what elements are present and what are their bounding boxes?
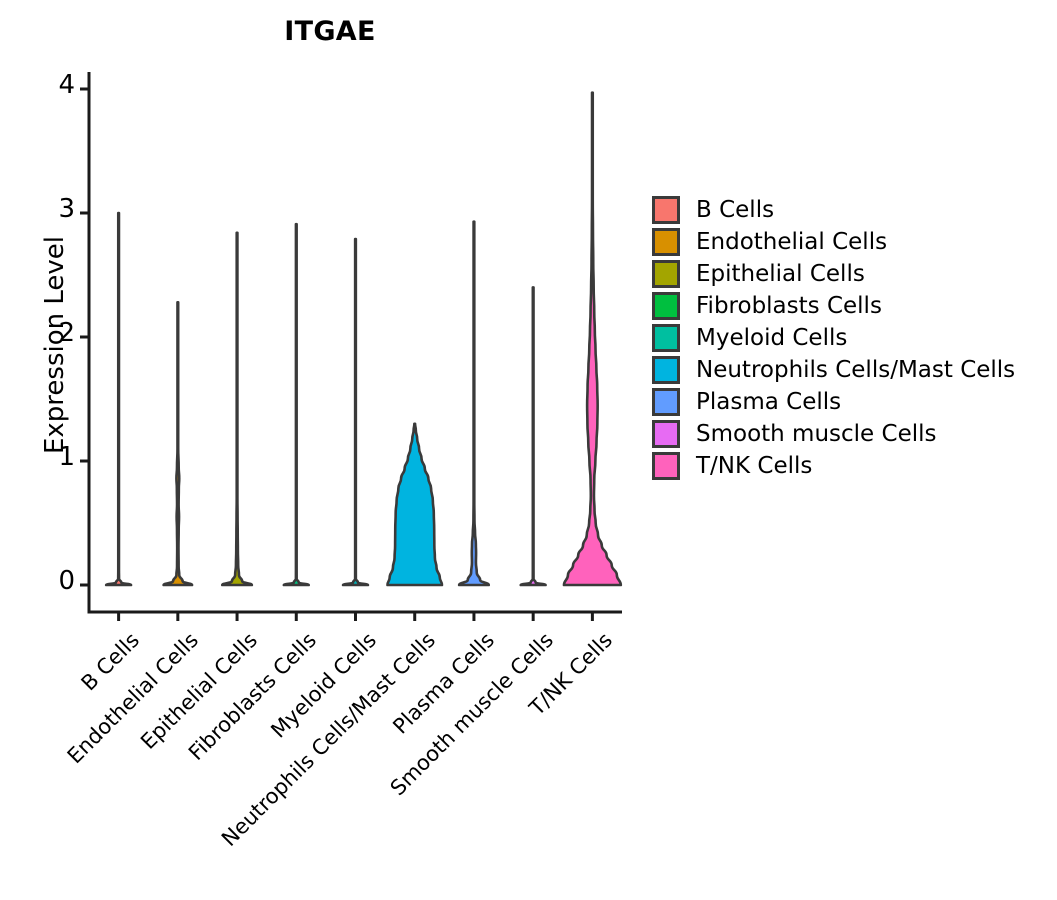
legend-swatch-icon: [652, 260, 680, 288]
legend-swatch-icon: [652, 324, 680, 352]
legend-swatch-icon: [652, 420, 680, 448]
legend-swatch-icon: [652, 356, 680, 384]
legend-swatch-icon: [652, 292, 680, 320]
legend-label: Smooth muscle Cells: [696, 423, 937, 446]
legend-item[interactable]: Neutrophils Cells/Mast Cells: [652, 354, 1015, 386]
violin-b-cells[interactable]: [106, 213, 131, 585]
legend-label: B Cells: [696, 199, 774, 222]
legend-label: Plasma Cells: [696, 391, 841, 414]
legend-item[interactable]: Plasma Cells: [652, 386, 1015, 418]
violin-smooth-muscle-cells[interactable]: [521, 287, 546, 585]
legend-item[interactable]: Myeloid Cells: [652, 322, 1015, 354]
legend-swatch-icon: [652, 196, 680, 224]
legend: B CellsEndothelial CellsEpithelial Cells…: [652, 194, 1015, 482]
legend-swatch-icon: [652, 228, 680, 256]
violin-plot-figure: ITGAE Expression Level 01234 B CellsEndo…: [0, 0, 1057, 900]
legend-swatch-icon: [652, 452, 680, 480]
violin-t-nk-cells[interactable]: [564, 93, 621, 585]
legend-swatch-icon: [652, 388, 680, 416]
legend-item[interactable]: Endothelial Cells: [652, 226, 1015, 258]
legend-label: Myeloid Cells: [696, 327, 847, 350]
violin-endothelial-cells[interactable]: [164, 302, 192, 585]
legend-label: Fibroblasts Cells: [696, 295, 882, 318]
legend-item[interactable]: Fibroblasts Cells: [652, 290, 1015, 322]
legend-item[interactable]: B Cells: [652, 194, 1015, 226]
legend-item[interactable]: Smooth muscle Cells: [652, 418, 1015, 450]
legend-label: Epithelial Cells: [696, 263, 865, 286]
violin-fibroblasts-cells[interactable]: [284, 224, 309, 585]
legend-label: Neutrophils Cells/Mast Cells: [696, 359, 1015, 382]
violin-myeloid-cells[interactable]: [343, 239, 368, 585]
violin-plasma-cells[interactable]: [459, 222, 489, 585]
violin-epithelial-cells[interactable]: [222, 233, 252, 585]
violin-neutrophils-cells-mast-cells[interactable]: [387, 424, 441, 585]
legend-item[interactable]: Epithelial Cells: [652, 258, 1015, 290]
legend-label: T/NK Cells: [696, 455, 812, 478]
legend-item[interactable]: T/NK Cells: [652, 450, 1015, 482]
legend-label: Endothelial Cells: [696, 231, 887, 254]
